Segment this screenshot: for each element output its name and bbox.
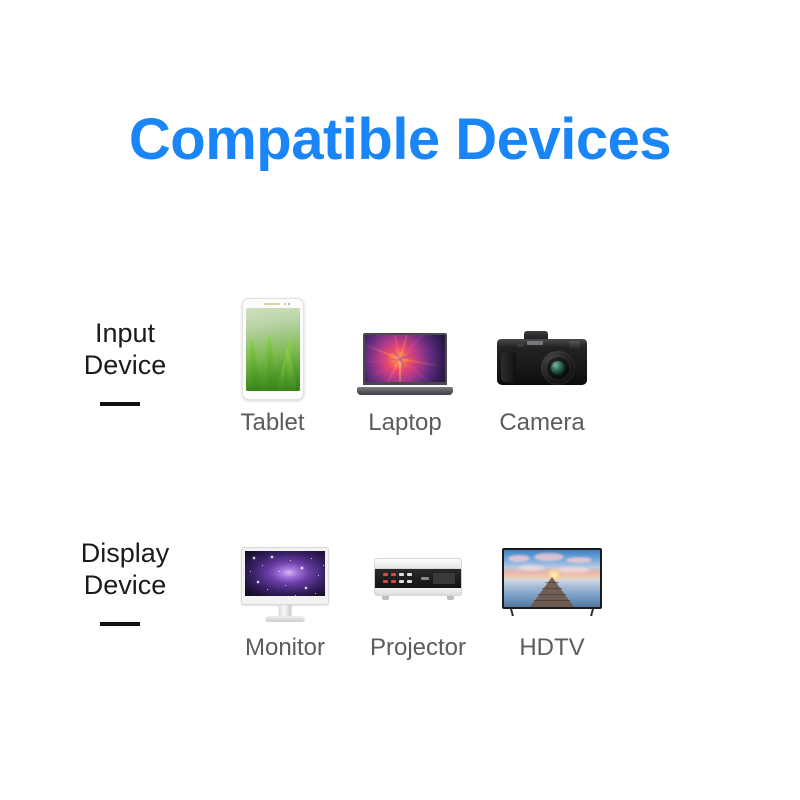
camera-mode-dial	[569, 341, 580, 349]
projector-top-shell	[374, 558, 462, 569]
category-input-underline	[100, 402, 140, 406]
camera-body	[497, 339, 587, 385]
category-input-device-text: Input Device	[40, 317, 210, 382]
category-display-device-text: Display Device	[40, 537, 210, 602]
device-item-projector[interactable]: Projector	[348, 500, 488, 670]
device-item-monitor[interactable]: Monitor	[212, 500, 358, 670]
camera-lens	[541, 351, 575, 385]
tablet-icon	[200, 292, 345, 397]
monitor-stand-neck	[279, 605, 292, 616]
monitor-screen	[245, 551, 325, 596]
laptop-icon	[335, 292, 475, 397]
monitor-frame	[241, 547, 329, 605]
device-item-laptop[interactable]: Laptop	[335, 275, 475, 445]
device-label-monitor: Monitor	[212, 634, 358, 662]
device-item-tablet[interactable]: Tablet	[200, 275, 345, 445]
laptop-screen	[365, 335, 445, 382]
monitor-stand-base	[265, 616, 305, 622]
projector-io-panel	[433, 573, 455, 584]
category-display-line1: Display	[40, 537, 210, 569]
camera-grip	[501, 352, 516, 382]
laptop-lid	[363, 333, 447, 385]
compatible-devices-page: Compatible Devices Input Device	[0, 0, 800, 800]
projector-foot-right	[447, 596, 454, 600]
hdtv-icon	[482, 517, 622, 622]
tablet-screen	[246, 308, 300, 391]
device-label-laptop: Laptop	[335, 409, 475, 437]
category-display-device: Display Device	[40, 500, 210, 670]
hdtv-foot-left	[510, 609, 514, 616]
projector-foot-left	[382, 596, 389, 600]
camera-shutter-button	[517, 342, 524, 347]
projector-icon	[348, 517, 488, 622]
monitor-icon	[212, 517, 358, 622]
device-item-hdtv[interactable]: HDTV	[482, 500, 622, 670]
hdtv-bezel	[502, 548, 602, 609]
laptop-base	[357, 387, 453, 395]
page-title: Compatible Devices	[0, 108, 800, 172]
device-label-camera: Camera	[472, 409, 612, 437]
display-device-row: Display Device	[0, 500, 800, 670]
category-display-line2: Device	[40, 569, 210, 601]
tablet-front-camera-icon	[284, 303, 286, 305]
device-item-camera[interactable]: Camera	[472, 275, 612, 445]
camera-logo	[527, 341, 543, 345]
device-label-hdtv: HDTV	[482, 634, 622, 662]
category-input-line1: Input	[40, 317, 210, 349]
hdtv-screen	[504, 550, 600, 607]
projector-base-shell	[374, 588, 462, 596]
device-label-projector: Projector	[348, 634, 488, 662]
hdtv-foot-right	[590, 609, 594, 616]
camera-icon	[472, 292, 612, 397]
tablet-speaker-icon	[264, 303, 280, 305]
projector-front-panel	[374, 569, 462, 588]
input-device-row: Input Device	[0, 275, 800, 445]
category-display-underline	[100, 622, 140, 626]
tablet-sensor-icon	[288, 303, 290, 305]
category-input-device: Input Device	[40, 275, 210, 445]
category-input-line2: Device	[40, 349, 210, 381]
device-label-tablet: Tablet	[200, 409, 345, 437]
